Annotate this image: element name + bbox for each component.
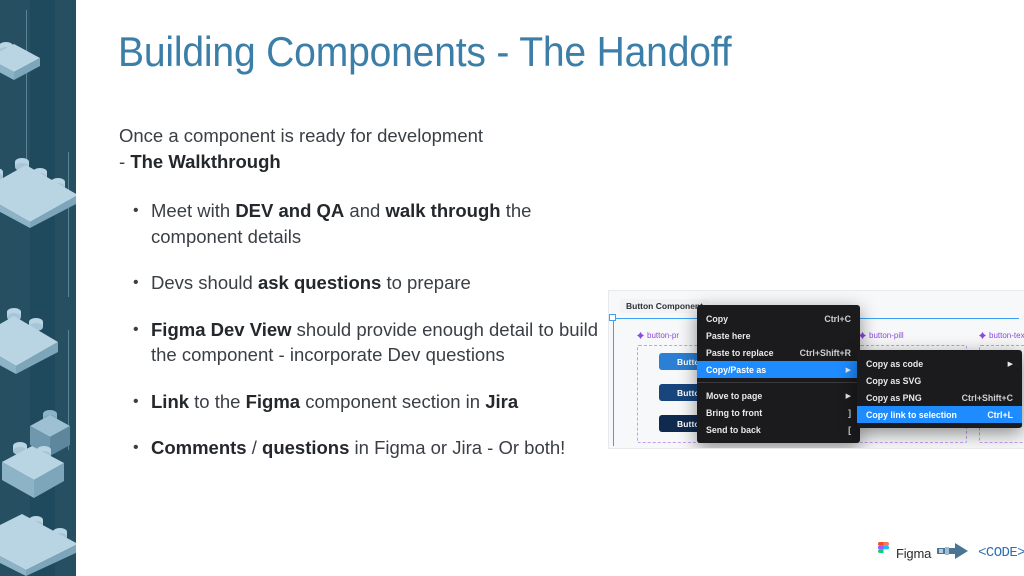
menu-item-label: Paste here	[706, 331, 841, 341]
menu-item-label: Bring to front	[706, 408, 838, 418]
bullet-text: Meet with DEV and QA and walk through th…	[151, 198, 603, 249]
chevron-right-icon: ▶	[836, 392, 851, 400]
bullet-marker: •	[133, 270, 151, 296]
bullet-marker: •	[133, 435, 151, 461]
bullet-part-bold: Figma	[246, 391, 300, 412]
menu-item-accelerator: Ctrl+C	[814, 314, 851, 324]
component-label-text: button-pr	[647, 331, 679, 340]
chevron-right-icon: ▶	[998, 360, 1013, 368]
submenu-item-copy-as-code[interactable]: Copy as code ▶	[857, 355, 1022, 372]
menu-item-bring-to-front[interactable]: Bring to front ]	[697, 404, 860, 421]
bullet-text: Figma Dev View should provide enough det…	[151, 317, 603, 368]
menu-item-label: Copy as code	[866, 359, 998, 369]
component-label-primary: button-pr	[637, 331, 679, 340]
menu-item-label: Copy	[706, 314, 814, 324]
list-item: • Link to the Figma component section in…	[133, 389, 603, 415]
bullet-part-bold: walk through	[385, 200, 500, 221]
sidebar-line-1	[26, 10, 27, 160]
list-item: • Devs should ask questions to prepare	[133, 270, 603, 296]
lego-brick-small-top	[0, 36, 48, 80]
component-label-pill: button-pill	[859, 331, 904, 340]
bullet-marker: •	[133, 198, 151, 249]
chevron-right-icon: ▶	[836, 366, 851, 374]
menu-item-send-to-back[interactable]: Send to back [	[697, 421, 860, 438]
slide: Building Components - The Handoff Once a…	[0, 0, 1024, 576]
list-item: • Meet with DEV and QA and walk through …	[133, 198, 603, 249]
component-label-text: button-pill	[869, 331, 904, 340]
lego-brick-mid	[0, 300, 68, 374]
lego-brick-long	[0, 148, 76, 228]
menu-item-accelerator: Ctrl+L	[977, 410, 1013, 420]
bullet-part-bold: ask questions	[258, 272, 381, 293]
submenu-item-copy-as-png[interactable]: Copy as PNG Ctrl+Shift+C	[857, 389, 1022, 406]
sidebar-decoration	[0, 0, 76, 576]
bullet-part-bold: DEV and QA	[235, 200, 344, 221]
menu-item-label: Copy link to selection	[866, 410, 977, 420]
menu-item-label: Copy as SVG	[866, 376, 1003, 386]
list-item: • Figma Dev View should provide enough d…	[133, 317, 603, 368]
menu-item-move-to-page[interactable]: Move to page ▶	[697, 387, 860, 404]
component-label-text: button-tex	[989, 331, 1024, 340]
bullet-part: to the	[189, 391, 246, 412]
figma-wordmark: Figma	[896, 546, 931, 561]
component-diamond-icon	[637, 332, 644, 339]
intro-line-2-bold: The Walkthrough	[130, 151, 280, 172]
intro-line-1: Once a component is ready for developmen…	[119, 125, 483, 146]
lego-brick-bottom	[0, 500, 76, 576]
intro-paragraph: Once a component is ready for developmen…	[119, 123, 619, 175]
menu-item-label: Paste to replace	[706, 348, 790, 358]
arrow-right-icon	[937, 541, 971, 566]
menu-item-copy-paste-as[interactable]: Copy/Paste as ▶	[697, 361, 860, 378]
bullet-part-bold: Link	[151, 391, 189, 412]
bullet-text: Devs should ask questions to prepare	[151, 270, 471, 296]
menu-separator	[697, 382, 860, 383]
menu-item-accelerator: Ctrl+Shift+R	[790, 348, 851, 358]
bullet-part-bold: Figma Dev View	[151, 319, 292, 340]
component-label-text: button-tex	[979, 331, 1024, 340]
menu-item-accelerator: Ctrl+Shift+C	[952, 393, 1013, 403]
submenu-item-copy-link-to-selection[interactable]: Copy link to selection Ctrl+L	[857, 406, 1022, 423]
menu-item-paste-here[interactable]: Paste here	[697, 327, 860, 344]
bullet-part: and	[344, 200, 385, 221]
figma-logo-icon	[876, 542, 891, 564]
bullet-part: /	[247, 437, 262, 458]
code-wordmark: <CODE>	[978, 545, 1024, 561]
menu-item-accelerator: ]	[838, 408, 851, 418]
lego-brick-step	[2, 432, 76, 504]
frame-name-label: Button Component	[620, 299, 709, 313]
bullet-part: component section in	[300, 391, 485, 412]
component-diamond-icon	[979, 332, 986, 339]
menu-item-label: Move to page	[706, 391, 836, 401]
bullet-part: Meet with	[151, 200, 235, 221]
bullet-part: to prepare	[381, 272, 470, 293]
bullet-marker: •	[133, 389, 151, 415]
selection-handle[interactable]	[609, 314, 616, 321]
page-title: Building Components - The Handoff	[118, 27, 881, 77]
menu-item-label: Copy as PNG	[866, 393, 952, 403]
bullet-part: Devs should	[151, 272, 258, 293]
submenu-item-copy-as-svg[interactable]: Copy as SVG	[857, 372, 1022, 389]
menu-item-copy[interactable]: Copy Ctrl+C	[697, 310, 860, 327]
bullet-part: in Figma or Jira - Or both!	[349, 437, 565, 458]
bullet-text: Comments / questions in Figma or Jira - …	[151, 435, 565, 461]
bullet-part-bold: Jira	[485, 391, 518, 412]
menu-item-label: Send to back	[706, 425, 838, 435]
component-diamond-icon	[859, 332, 866, 339]
figma-screenshot: Button Component button-pr Button Button…	[609, 291, 1024, 448]
bullet-part-bold: questions	[262, 437, 349, 458]
menu-item-paste-to-replace[interactable]: Paste to replace Ctrl+Shift+R	[697, 344, 860, 361]
menu-item-accelerator: [	[838, 425, 851, 435]
context-submenu[interactable]: Copy as code ▶ Copy as SVG Copy as PNG C…	[857, 350, 1022, 428]
footer-logos: Figma <CODE>	[876, 534, 1024, 572]
bullet-text: Link to the Figma component section in J…	[151, 389, 518, 415]
context-menu[interactable]: Copy Ctrl+C Paste here Paste to replace …	[697, 305, 860, 443]
bullet-marker: •	[133, 317, 151, 368]
menu-item-label: Copy/Paste as	[706, 365, 836, 375]
intro-line-2-prefix: -	[119, 151, 130, 172]
list-item: • Comments / questions in Figma or Jira …	[133, 435, 603, 461]
bullet-list: • Meet with DEV and QA and walk through …	[133, 198, 603, 482]
bullet-part-bold: Comments	[151, 437, 247, 458]
